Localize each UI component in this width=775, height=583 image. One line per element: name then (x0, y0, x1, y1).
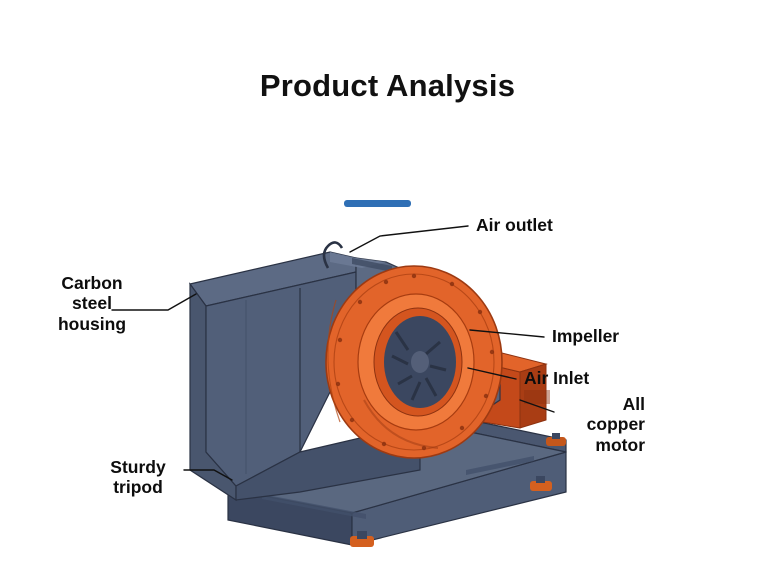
leader-air-outlet (350, 226, 468, 252)
callout-air-inlet-label: Air Inlet (524, 368, 589, 388)
callout-impeller-label: Impeller (552, 326, 619, 346)
impeller-inlet (326, 266, 502, 458)
callout-all-copper-motor-label: All copper motor (515, 394, 645, 455)
product-analysis-page: Product Analysis (0, 0, 775, 583)
callout-air-outlet-label: Air outlet (476, 215, 553, 235)
accent-bar (344, 200, 411, 207)
callout-sturdy-tripod-label: Sturdy tripod (88, 457, 188, 498)
callout-carbon-steel-housing-label: Carbon steel housing (36, 273, 148, 334)
